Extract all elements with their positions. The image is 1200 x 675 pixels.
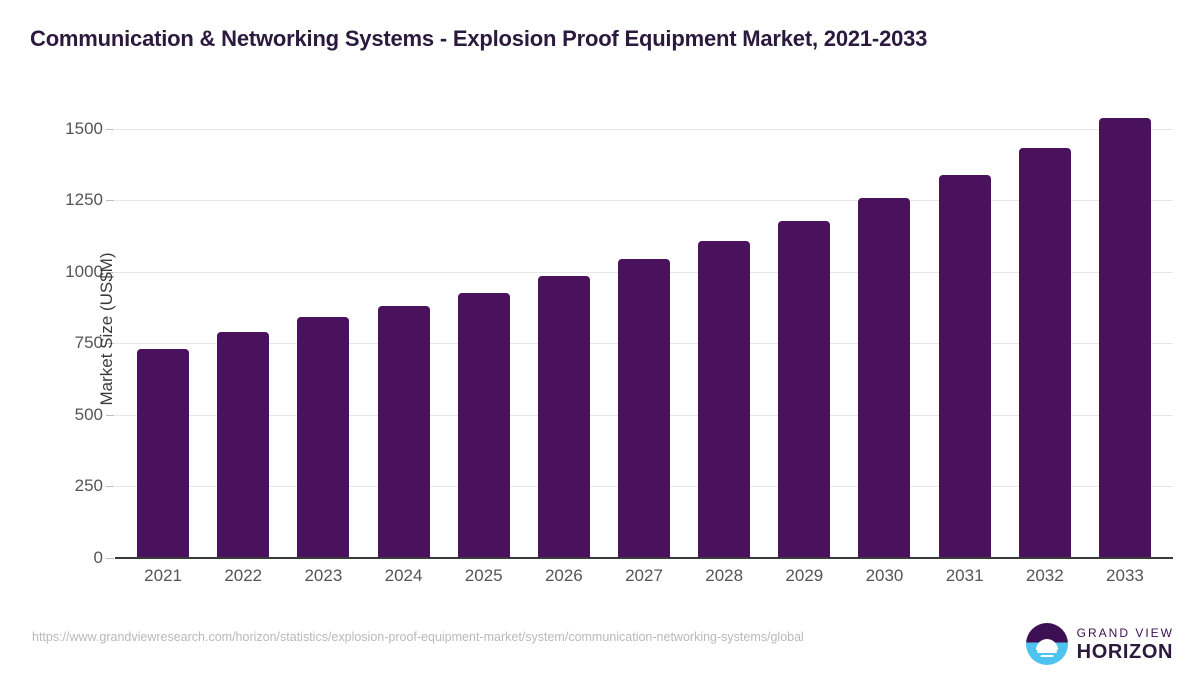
bar-2022[interactable] — [217, 332, 269, 558]
y-axis-label: Market Size (US$M) — [97, 252, 117, 405]
x-axis-tick-label: 2023 — [283, 566, 363, 596]
y-axis-tick-mark — [106, 558, 114, 559]
y-axis-tick-mark — [106, 415, 114, 416]
bar-slot — [363, 100, 443, 558]
y-axis-tick-label: 1000 — [33, 262, 103, 282]
bar-slot — [684, 100, 764, 558]
x-axis-tick-label: 2022 — [203, 566, 283, 596]
brand-name-bottom: HORIZON — [1077, 642, 1174, 662]
x-axis-tick-label: 2031 — [925, 566, 1005, 596]
source-url[interactable]: https://www.grandviewresearch.com/horizo… — [32, 629, 972, 646]
bars-layer — [115, 100, 1173, 558]
chart-card: Communication & Networking Systems - Exp… — [0, 0, 1200, 675]
y-axis-tick-label: 250 — [33, 476, 103, 496]
x-axis-tick-label: 2032 — [1005, 566, 1085, 596]
bar-2030[interactable] — [858, 198, 910, 558]
bar-slot — [1005, 100, 1085, 558]
x-axis-tick-label: 2025 — [444, 566, 524, 596]
x-axis-tick-label: 2033 — [1085, 566, 1165, 596]
bar-slot — [524, 100, 604, 558]
bar-slot — [444, 100, 524, 558]
bar-2021[interactable] — [137, 349, 189, 558]
x-axis-tick-label: 2030 — [844, 566, 924, 596]
page-title: Communication & Networking Systems - Exp… — [30, 26, 927, 52]
sun-dome-shape — [1036, 639, 1058, 650]
bar-slot — [604, 100, 684, 558]
y-axis-tick-label: 0 — [33, 548, 103, 568]
y-axis-tick-label: 1250 — [33, 190, 103, 210]
bar-2024[interactable] — [378, 306, 430, 558]
bar-2023[interactable] — [297, 317, 349, 558]
bar-slot — [123, 100, 203, 558]
bar-2029[interactable] — [778, 221, 830, 558]
bar-slot — [203, 100, 283, 558]
brand-name-top: GRAND VIEW — [1077, 627, 1174, 639]
x-axis-tick-label: 2021 — [123, 566, 203, 596]
bar-slot — [283, 100, 363, 558]
bar-slot — [764, 100, 844, 558]
bar-2025[interactable] — [458, 293, 510, 558]
sunrise-circle-icon — [1026, 623, 1068, 665]
sun-ray-line-1 — [1037, 650, 1057, 653]
bar-2026[interactable] — [538, 276, 590, 558]
x-axis-tick-label: 2027 — [604, 566, 684, 596]
x-axis-tick-label: 2026 — [524, 566, 604, 596]
x-axis-tick-label: 2028 — [684, 566, 764, 596]
bar-2032[interactable] — [1019, 148, 1071, 558]
bar-2033[interactable] — [1099, 118, 1151, 558]
brand-logo: GRAND VIEW HORIZON — [1026, 622, 1174, 666]
bar-slot — [844, 100, 924, 558]
bar-2031[interactable] — [939, 175, 991, 558]
bar-slot — [925, 100, 1005, 558]
bar-2027[interactable] — [618, 259, 670, 558]
x-axis-tick-label: 2024 — [363, 566, 443, 596]
y-axis-tick-label: 1500 — [33, 119, 103, 139]
bar-2028[interactable] — [698, 241, 750, 558]
bar-slot — [1085, 100, 1165, 558]
y-axis-tick-mark — [106, 129, 114, 130]
y-axis-tick-label: 500 — [33, 405, 103, 425]
y-axis-tick-mark — [106, 200, 114, 201]
sun-ray-line-2 — [1040, 655, 1053, 658]
y-axis-tick-mark — [106, 486, 114, 487]
y-axis-tick-label: 750 — [33, 333, 103, 353]
x-axis-line — [115, 557, 1173, 559]
x-axis-tick-label: 2029 — [764, 566, 844, 596]
brand-text: GRAND VIEW HORIZON — [1077, 627, 1174, 662]
plot-area: 0250500750100012501500 Market Size (US$M… — [115, 100, 1173, 558]
x-axis-tick-labels: 2021202220232024202520262027202820292030… — [115, 566, 1173, 596]
